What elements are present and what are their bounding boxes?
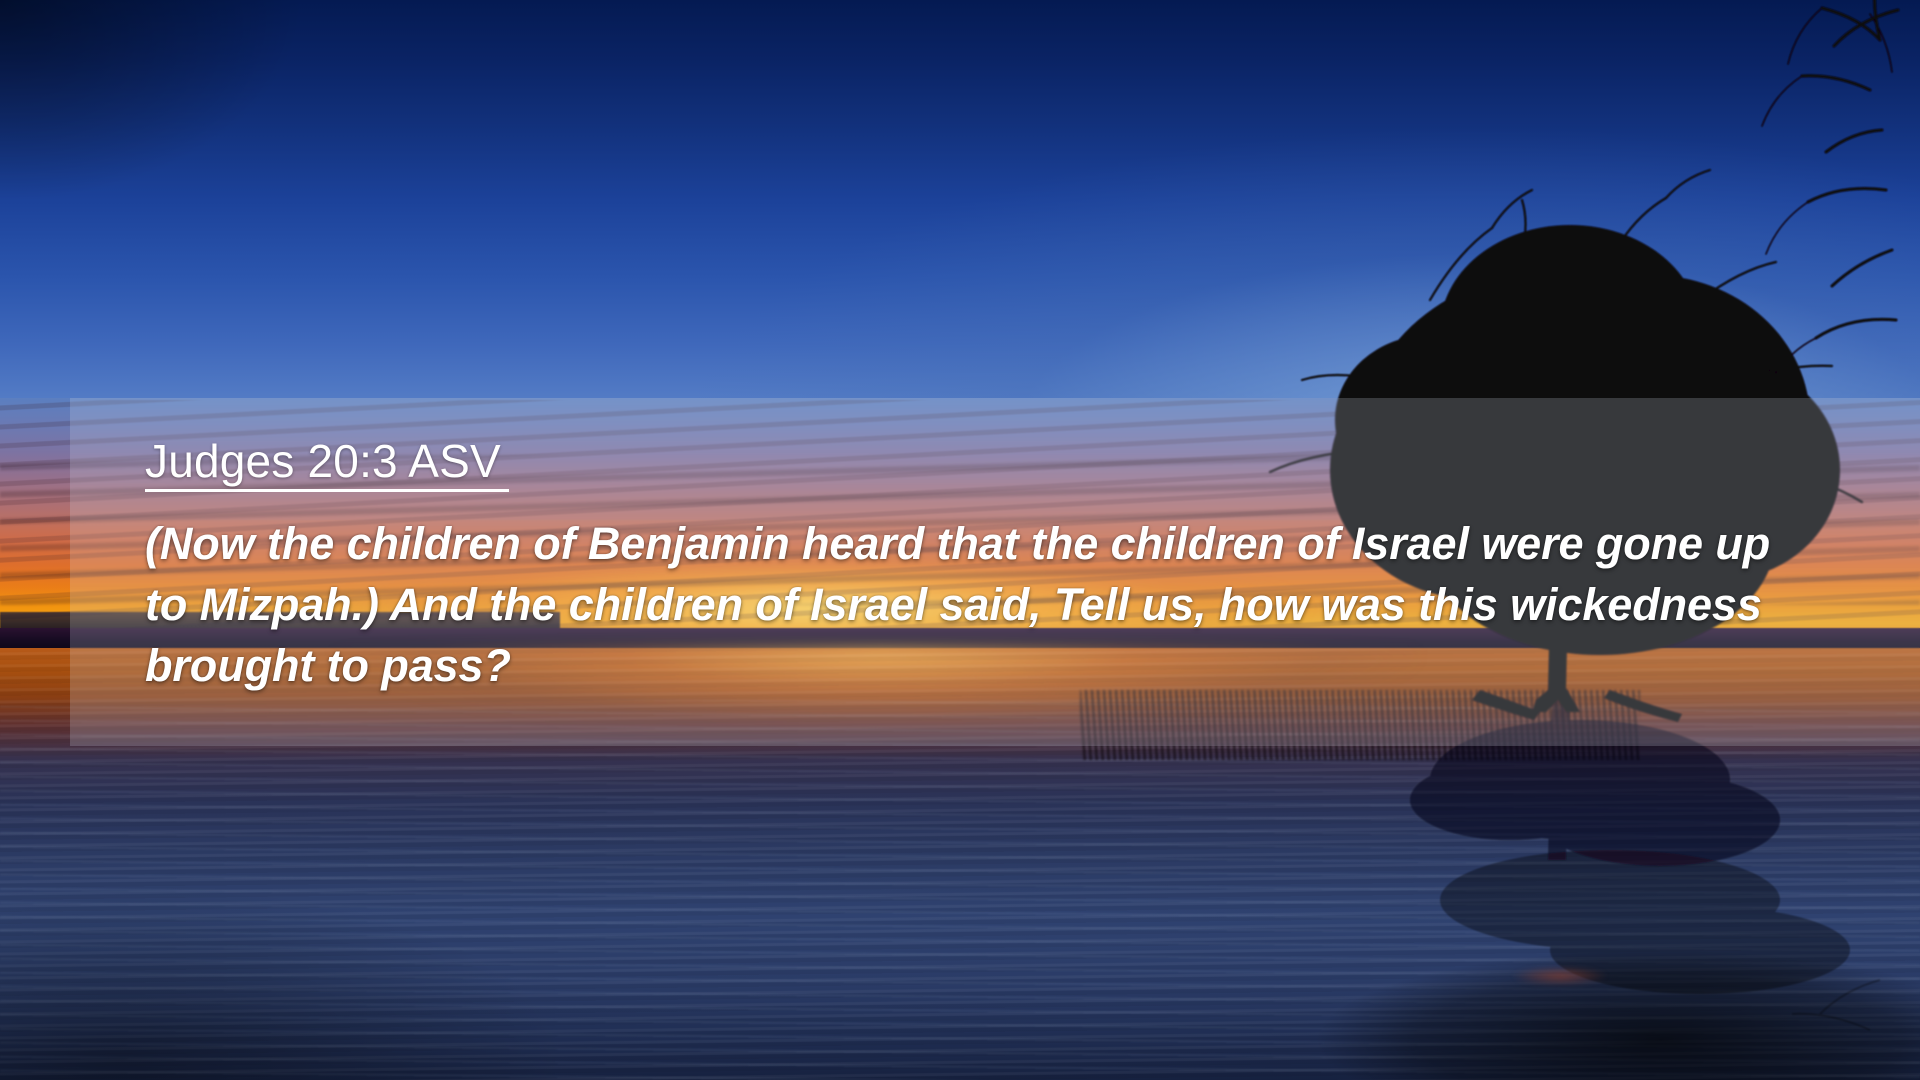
water-shadow-left [0,820,760,1080]
verse-reference: Judges 20:3 ASV [145,438,509,492]
wallpaper-canvas: Judges 20:3 ASV (Now the children of Ben… [0,0,1920,1080]
verse-content: Judges 20:3 ASV (Now the children of Ben… [145,438,1845,696]
near-bank-shadow [1240,930,1920,1080]
verse-overlay-panel: Judges 20:3 ASV (Now the children of Ben… [70,398,1920,746]
sky-vignette [0,0,520,300]
verse-text: (Now the children of Benjamin heard that… [145,513,1785,696]
bank-highlight [1500,965,1620,987]
